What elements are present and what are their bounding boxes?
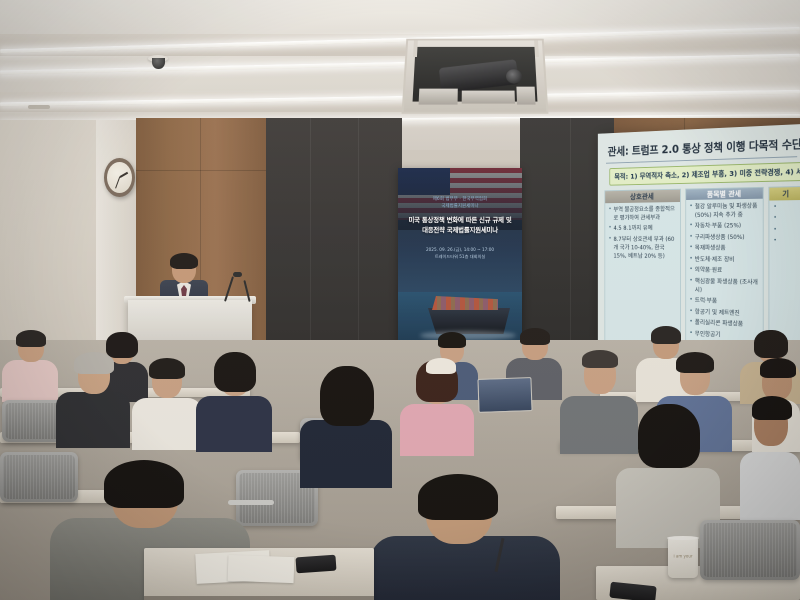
cup-rim [667,536,699,540]
slide-bullet: 8.7부터 상호관세 부과 (60개 국가 10-40%, 한국 15%, 베트… [609,236,678,262]
projection-screen: 관세: 트럼프 2.0 통상 정책 이행 다목적 수단 목적: 1) 무역적자 … [598,124,800,355]
microphone-icon [233,272,242,277]
slide-column-third: 기 [769,186,800,351]
banner-datetime: 2025. 09. 26.(금), 14:00 ~ 17:00 트레이드타워 5… [404,246,516,261]
panel-seam-b [358,118,359,358]
attendee-hair [676,352,714,373]
slide-objective-bar: 목적: 1) 무역적자 축소, 2) 제조업 부흥, 3) 미중 전략경쟁, 4… [609,162,800,186]
led-strip-2 [0,54,800,74]
banner-subtitle: 제6회 법무부 · 한국무역협회 국제법률지원세미나 [404,196,516,211]
attendee [740,396,800,516]
attendee-torso [740,452,800,520]
attendee-hair [582,350,618,368]
attendee-hair [104,460,184,508]
attendee-hair [520,328,550,345]
slide-bullet: 자동차·부품 (25%) [690,223,761,232]
attendee [132,358,202,446]
slide-bullet [773,216,799,225]
slide-column-sectoral: 품목별 관세 철강 알루미늄 및 파생상품(50%) 지속 추가 중 자동차·부… [685,187,764,349]
slide-bullet: 트럭·부품 [690,298,761,309]
projector-recess [413,47,538,102]
projector-equipment-left [419,89,458,105]
attendee-hair [438,332,466,348]
attendee [196,352,272,448]
slide-bullet [773,204,799,213]
cup-label: i am your [674,554,693,559]
wall-clock [104,158,135,197]
handout-paper [228,555,295,583]
attendee-torso [370,536,560,600]
slide-bullet [773,238,799,247]
clock-face [107,162,132,193]
laptop-screen [477,377,532,413]
slide-bullet: 항공기 및 제트엔진 [690,308,761,319]
attendee [400,360,474,452]
projector-lens-icon [506,69,523,83]
slide-bullet: 목재파생상품 [690,245,761,254]
attendee-hair [418,474,498,520]
smartphone [295,555,336,574]
slide-bullet: 구리파생상품 (50%) [690,234,761,243]
banner-title: 미국 통상정책 변화에 따른 신규 규제 및 대응전략 국제법률지원세미나 [402,216,518,235]
slide-column-reciprocal: 상호관세 부역 불공정요소를 종합적으로 평가하여 관세부과 4.5 8.1까지… [604,189,680,346]
desk-edge [144,596,374,600]
attendee-hair [214,352,256,392]
attendee [2,330,58,400]
speaker-hair [170,253,198,269]
wood-seam-h [136,170,268,171]
slide-bullet: 부역 불공정요소를 종합적으로 평가하여 관세부과 [609,206,678,224]
attendee-hair [16,330,46,347]
banner-venue-line: 트레이드타워 51층 대회의실 [404,253,516,260]
attendee-hair [754,330,788,358]
banner-date-line: 2025. 09. 26.(금), 14:00 ~ 17:00 [404,246,516,253]
chair-mesh [703,523,797,577]
projector-equipment-right [516,87,535,105]
slide-bullet: 철강 알루미늄 및 파생상품(50%) 지속 추가 중 [690,203,761,221]
attendee-hair [760,358,796,378]
attendee-hair [638,404,700,468]
attendee-cap-icon [426,358,456,374]
air-vent [28,105,50,109]
slide-bullet [773,227,799,236]
slide-column-body: 부역 불공정요소를 종합적으로 평가하여 관세부과 4.5 8.1까지 유예 8… [605,202,680,344]
attendee-hair [752,396,792,420]
attendee-hair-gray [74,352,114,374]
projector-equipment-mid [462,91,515,104]
attendee-torso [196,396,272,452]
event-banner: 제6회 법무부 · 한국무역협회 국제법률지원세미나 미국 통상정책 변화에 따… [398,168,522,354]
projector-housing [402,39,549,114]
slide-columns: 상호관세 부역 불공정요소를 종합적으로 평가하여 관세부과 4.5 8.1까지… [604,186,800,351]
attendee-hair [149,358,185,379]
slide-bullet: 4.5 8.1까지 유예 [609,225,678,234]
attendee-torso [132,398,202,450]
attendee-torso [400,404,474,456]
banner-title-line1: 미국 통상정책 변화에 따른 신규 규제 및 [402,216,518,226]
attendee-foreground [370,474,560,600]
slide-title: 관세: 트럼프 2.0 통상 정책 이행 다목적 수단 [608,136,797,159]
acoustic-panel-left [266,118,402,358]
banner-title-line2: 대응전략 국제법률지원세미나 [402,226,518,236]
attendee [300,366,392,484]
seminar-room-photo: 관세: 트럼프 2.0 통상 정책 이행 다목적 수단 목적: 1) 무역적자 … [0,0,800,600]
slide-objective-text: 목적: 1) 무역적자 축소, 2) 제조업 부흥, 3) 미중 전략경쟁, 4… [614,166,800,182]
chair [700,520,800,580]
attendee-hair [651,326,681,344]
slide-bullet: 의약품·원료 [690,267,761,277]
slide-bullet: 폴리실리콘 파생상품 [690,319,761,330]
attendee-hair [320,366,374,426]
panel-seam-c [570,118,571,358]
coffee-cup: i am your [668,538,698,578]
ceiling-upper-band [0,0,800,34]
attendee-torso [56,392,130,448]
slide-bullet: 핵심광물 파생상품 (조사개시) [690,278,761,297]
clock-minute-hand [114,177,119,189]
slide-bullet: 반도체·제조 장비 [690,256,761,265]
slide-column-body [770,200,800,350]
attendee-torso [2,360,58,402]
slide-column-header: 기 [770,187,800,201]
banner-subtitle-line2: 국제법률지원세미나 [404,203,516,210]
attendee [56,352,130,444]
panel-seam-a [310,118,311,358]
banner-subtitle-line1: 제6회 법무부 · 한국무역협회 [404,196,516,203]
